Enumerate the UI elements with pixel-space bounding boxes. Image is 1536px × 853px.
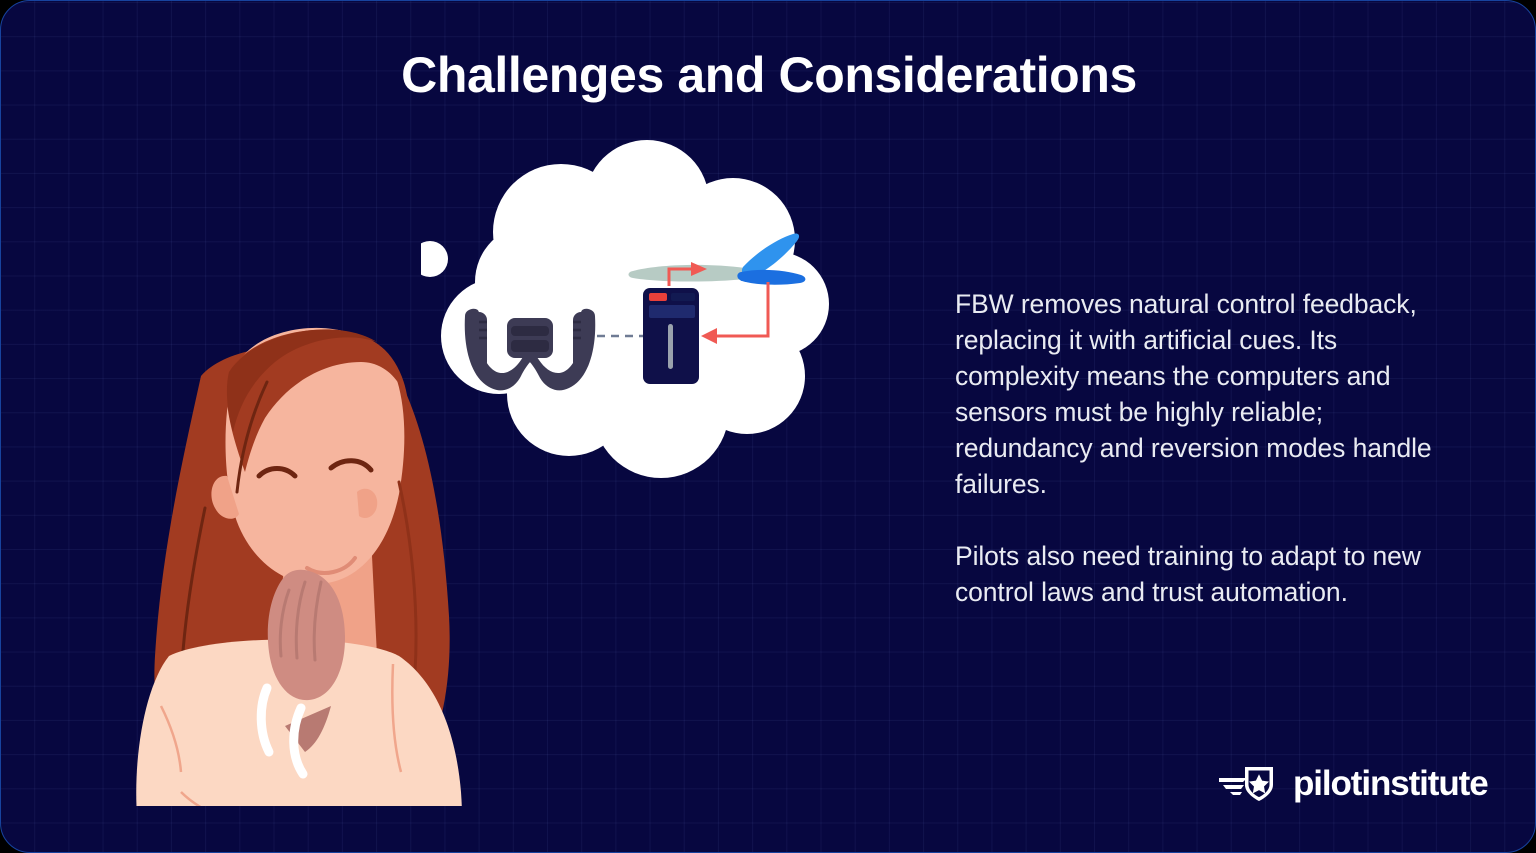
logo-wordmark: pilotinstitute	[1293, 766, 1488, 801]
winged-shield-star-emblem	[1217, 762, 1279, 804]
thought-bubble-illustration	[421, 136, 861, 511]
pilot-institute-logo: pilotinstitute	[1217, 761, 1488, 805]
thought-dot-large	[421, 241, 448, 277]
computer-slider	[668, 324, 673, 369]
flight-control-computer	[643, 288, 699, 384]
body-copy: FBW removes natural control feedback, re…	[955, 286, 1465, 610]
page-title: Challenges and Considerations	[1, 48, 1536, 103]
computer-label-bar	[671, 293, 695, 301]
computer-display-bar	[649, 305, 695, 318]
computer-status-light	[649, 293, 667, 301]
thought-bubble-cloud	[441, 140, 829, 478]
body-paragraph-2: Pilots also need training to adapt to ne…	[955, 538, 1465, 610]
slide-canvas: Challenges and Considerations	[0, 0, 1536, 853]
body-paragraph-1: FBW removes natural control feedback, re…	[955, 286, 1465, 502]
